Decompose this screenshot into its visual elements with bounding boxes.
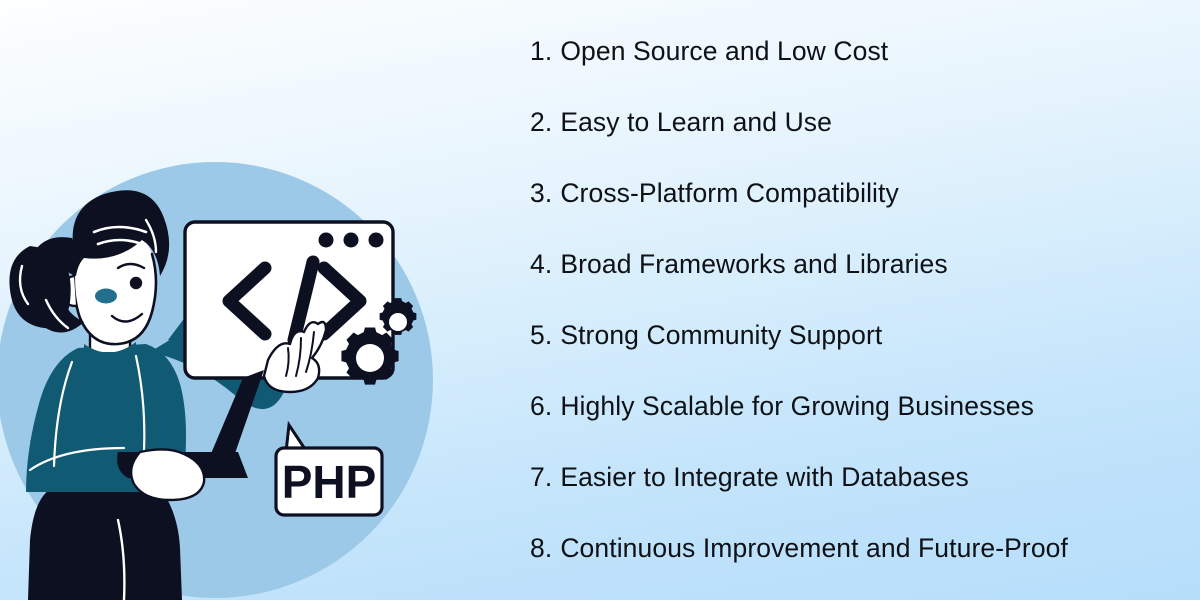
list-item-label: Strong Community Support bbox=[560, 320, 882, 351]
list-item: 1. Open Source and Low Cost bbox=[530, 34, 1190, 68]
list-item: 6. Highly Scalable for Growing Businesse… bbox=[530, 389, 1190, 423]
window-dot-3 bbox=[369, 233, 384, 248]
list-item-label: Continuous Improvement and Future-Proof bbox=[560, 533, 1068, 564]
speech-bubble-label: PHP bbox=[282, 456, 377, 508]
list-item-label: Open Source and Low Cost bbox=[560, 36, 888, 67]
list-item-label: Easy to Learn and Use bbox=[560, 107, 832, 138]
character-blush bbox=[95, 289, 117, 304]
list-item-number: 6. bbox=[530, 391, 552, 422]
list-item-number: 8. bbox=[530, 533, 552, 564]
window-dot-1 bbox=[319, 233, 334, 248]
list-item: 2. Easy to Learn and Use bbox=[530, 105, 1190, 139]
window-dot-2 bbox=[344, 233, 359, 248]
list-item-label: Cross-Platform Compatibility bbox=[560, 178, 899, 209]
list-item-number: 5. bbox=[530, 320, 552, 351]
list-item-number: 7. bbox=[530, 462, 552, 493]
list-item: 5. Strong Community Support bbox=[530, 318, 1190, 352]
benefits-list: 1. Open Source and Low Cost 2. Easy to L… bbox=[530, 0, 1190, 600]
character-eye bbox=[130, 277, 142, 289]
list-item-number: 1. bbox=[530, 36, 552, 67]
list-item-number: 3. bbox=[530, 178, 552, 209]
list-item: 8. Continuous Improvement and Future-Pro… bbox=[530, 531, 1190, 565]
list-item: 4. Broad Frameworks and Libraries bbox=[530, 247, 1190, 281]
character-skirt bbox=[28, 488, 182, 600]
list-item-label: Easier to Integrate with Databases bbox=[560, 462, 968, 493]
list-item: 7. Easier to Integrate with Databases bbox=[530, 460, 1190, 494]
list-item: 3. Cross-Platform Compatibility bbox=[530, 176, 1190, 210]
infographic-canvas: PHP 1. Open Source and Low Cost 2. Easy … bbox=[0, 0, 1200, 600]
list-item-label: Highly Scalable for Growing Businesses bbox=[560, 391, 1034, 422]
list-item-label: Broad Frameworks and Libraries bbox=[560, 249, 947, 280]
php-illustration: PHP bbox=[0, 0, 470, 600]
list-item-number: 2. bbox=[530, 107, 552, 138]
list-item-number: 4. bbox=[530, 249, 552, 280]
